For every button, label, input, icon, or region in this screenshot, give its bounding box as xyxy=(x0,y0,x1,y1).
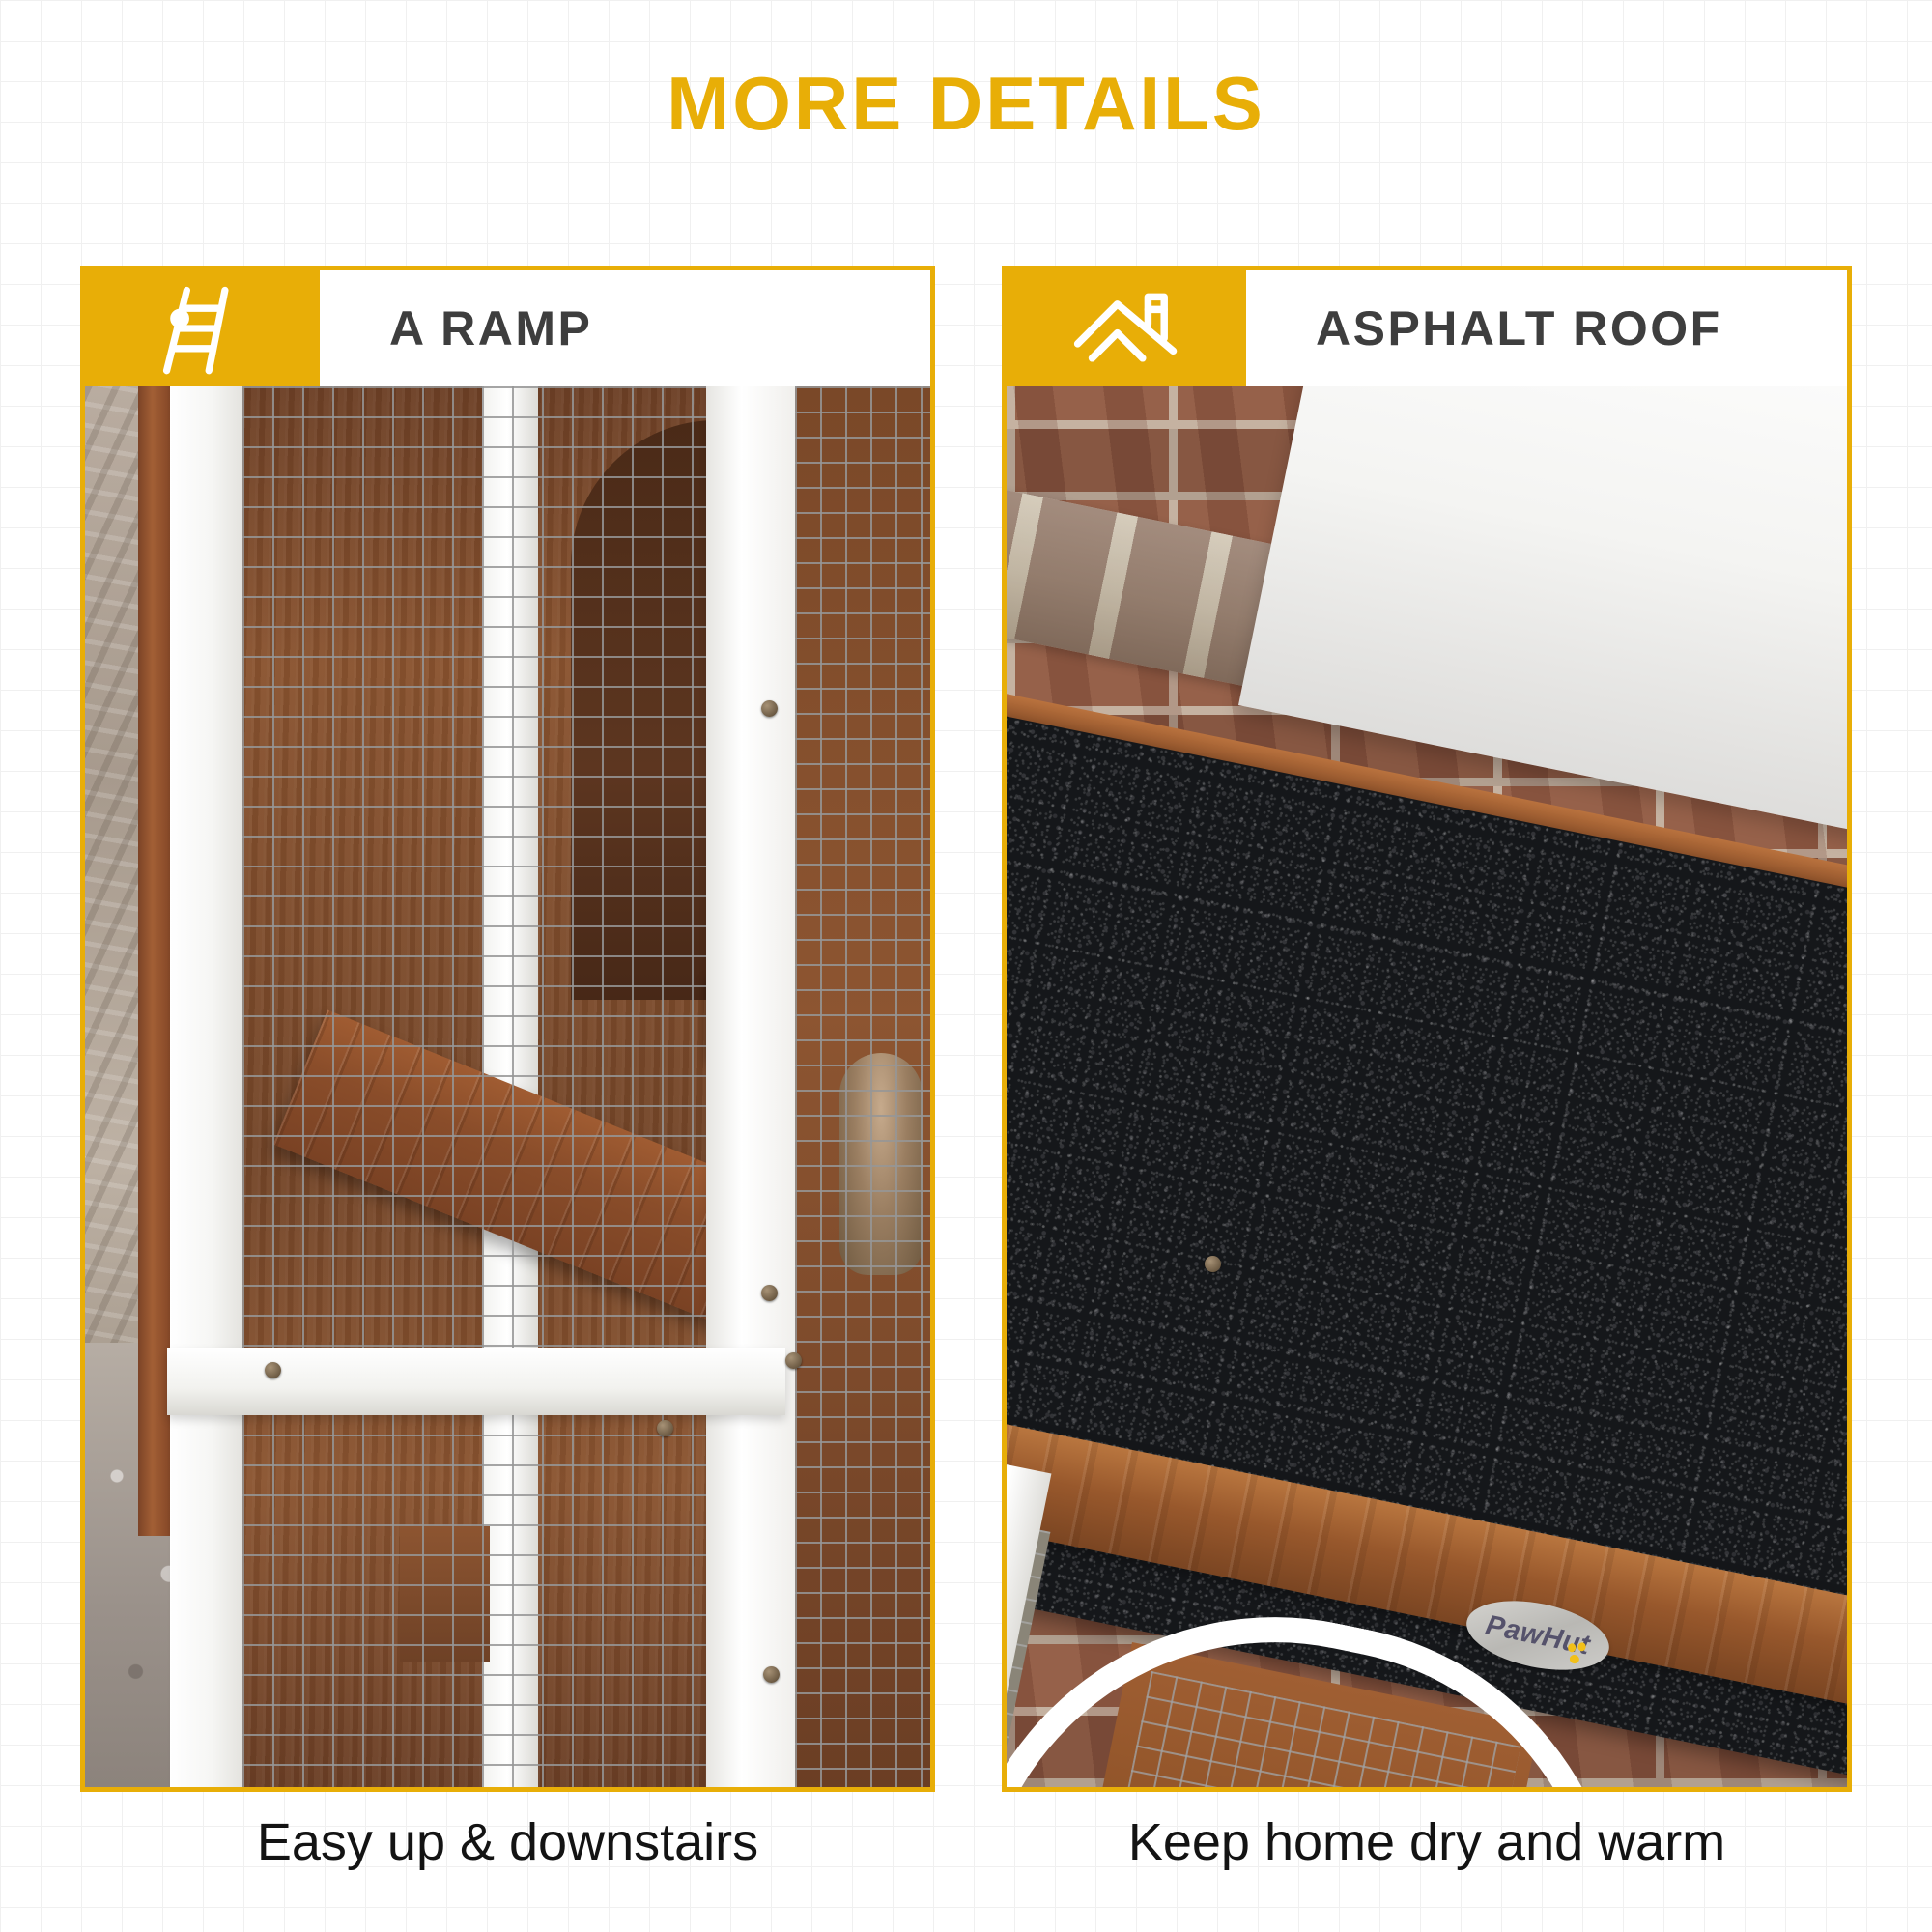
screw xyxy=(1205,1256,1221,1272)
screw xyxy=(761,1285,778,1301)
roof-photo: PawHut xyxy=(1007,386,1847,1787)
screw xyxy=(763,1666,780,1683)
detail-card-ramp: A RAMP xyxy=(80,266,935,1792)
side-compartment xyxy=(795,386,930,1787)
ramp-card-header: A RAMP xyxy=(85,270,930,386)
middle-rail xyxy=(167,1348,785,1415)
detail-card-roof: PawHut ASPHALT ROOF xyxy=(1002,266,1852,1792)
right-frame-post xyxy=(706,386,795,1787)
screw xyxy=(657,1420,673,1436)
roof-card-title: ASPHALT ROOF xyxy=(1246,270,1847,386)
page-title: MORE DETAILS xyxy=(0,60,1932,148)
roof-photo-area: PawHut xyxy=(1007,386,1847,1787)
screw xyxy=(785,1352,802,1369)
ladder-icon xyxy=(85,270,320,386)
left-frame-post xyxy=(170,386,245,1787)
roof-card-caption: Keep home dry and warm xyxy=(1002,1812,1852,1872)
paw-dots-icon xyxy=(1564,1642,1593,1668)
ramp-card-caption: Easy up & downstairs xyxy=(80,1812,935,1872)
roof-card-header: ASPHALT ROOF xyxy=(1007,270,1847,386)
screw xyxy=(761,700,778,717)
ramp-card-title: A RAMP xyxy=(320,270,930,386)
rabbit xyxy=(839,1053,923,1275)
hutch-interior xyxy=(242,386,710,1787)
arched-doorway xyxy=(571,420,710,1000)
ramp-photo-area xyxy=(85,386,930,1787)
roof-icon xyxy=(1007,270,1246,386)
ramp-photo xyxy=(85,386,930,1787)
lower-floor xyxy=(400,1526,490,1662)
screw xyxy=(265,1362,281,1378)
